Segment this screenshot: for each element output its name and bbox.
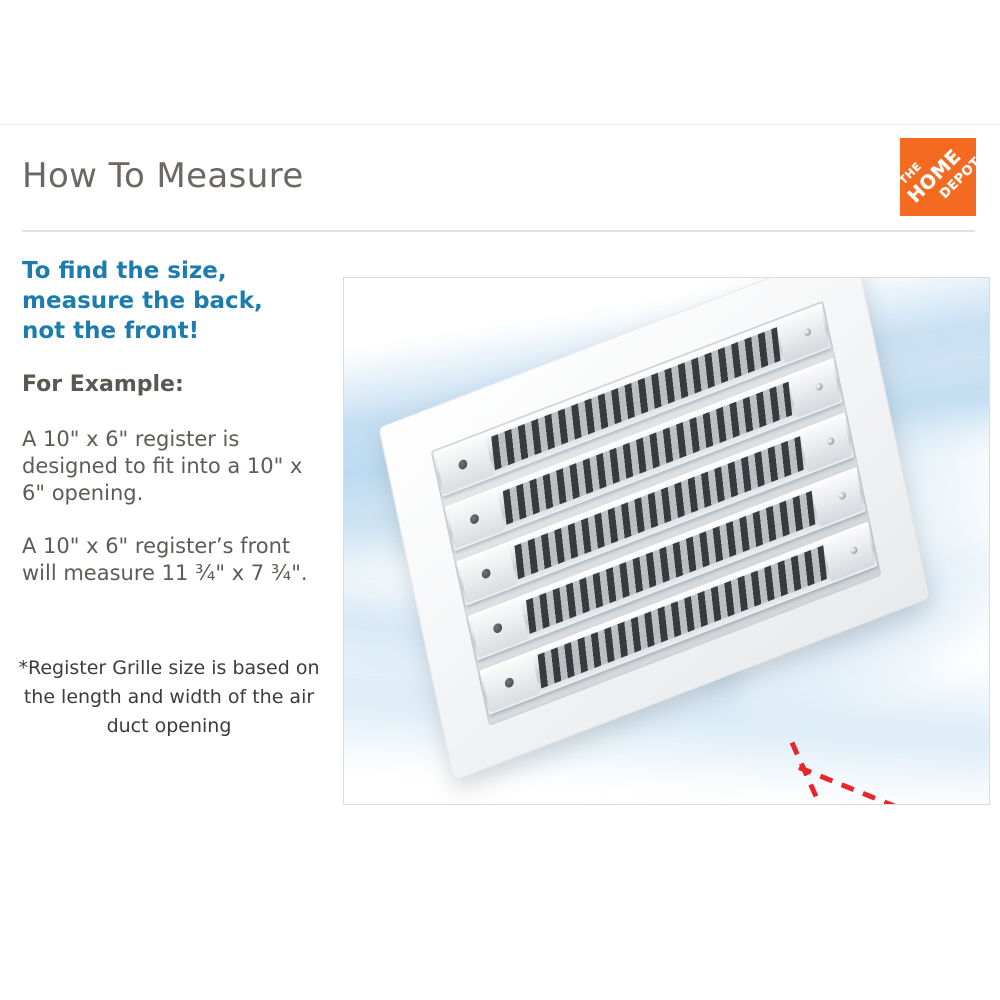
blade-left-tab [470,598,528,657]
register-grille-image [378,278,929,781]
blade-left-hole [481,567,492,579]
blade-rivet [815,382,823,392]
blade-rivet [804,327,812,337]
lead-heading-line-1: To find the size, [22,256,332,286]
height-dimension-label: Height/Length- 6 in. [798,801,914,804]
the-home-depot-logo: THE HOME DEPOT [900,138,976,216]
blade-left-tab [459,544,517,603]
blade-right-tab [788,361,840,418]
photo-stage: Width- 10 in. Height/Length- 6 in. Measu… [344,278,989,804]
blade-right-tab [776,306,828,363]
lead-heading-line-3: not the front! [22,316,332,346]
page-title: How To Measure [22,156,304,196]
width-dashed-guide [798,765,989,804]
example-paragraph-1: A 10" x 6" register is designed to fit i… [22,426,322,507]
blade-left-hole [458,458,469,470]
blade-left-hole [469,513,480,525]
blade-left-hole [492,622,503,634]
lead-heading-line-2: measure the back, [22,286,332,316]
blade-right-tab [811,470,863,527]
example-paragraph-2: A 10" x 6" register’s front will measure… [22,533,322,587]
blade-left-hole [504,677,515,689]
blade-left-tab [447,489,505,548]
height-dashed-guide [790,741,881,804]
blade-rivet [850,546,858,556]
blade-rivet [838,491,846,501]
blade-left-tab [482,653,540,712]
blade-right-tab [823,524,875,581]
top-divider [0,124,1000,125]
page-root: How To Measure THE HOME DEPOT To find th… [0,0,1000,1000]
blade-rivet [827,436,835,446]
footnote-text: *Register Grille size is based on the le… [4,654,334,741]
title-divider [22,230,975,232]
blade-right-tab [800,415,852,472]
product-photo-panel: Width- 10 in. Height/Length- 6 in. Measu… [343,277,990,805]
lead-heading: To find the size, measure the back, not … [22,256,332,346]
for-example-label: For Example: [22,372,184,397]
